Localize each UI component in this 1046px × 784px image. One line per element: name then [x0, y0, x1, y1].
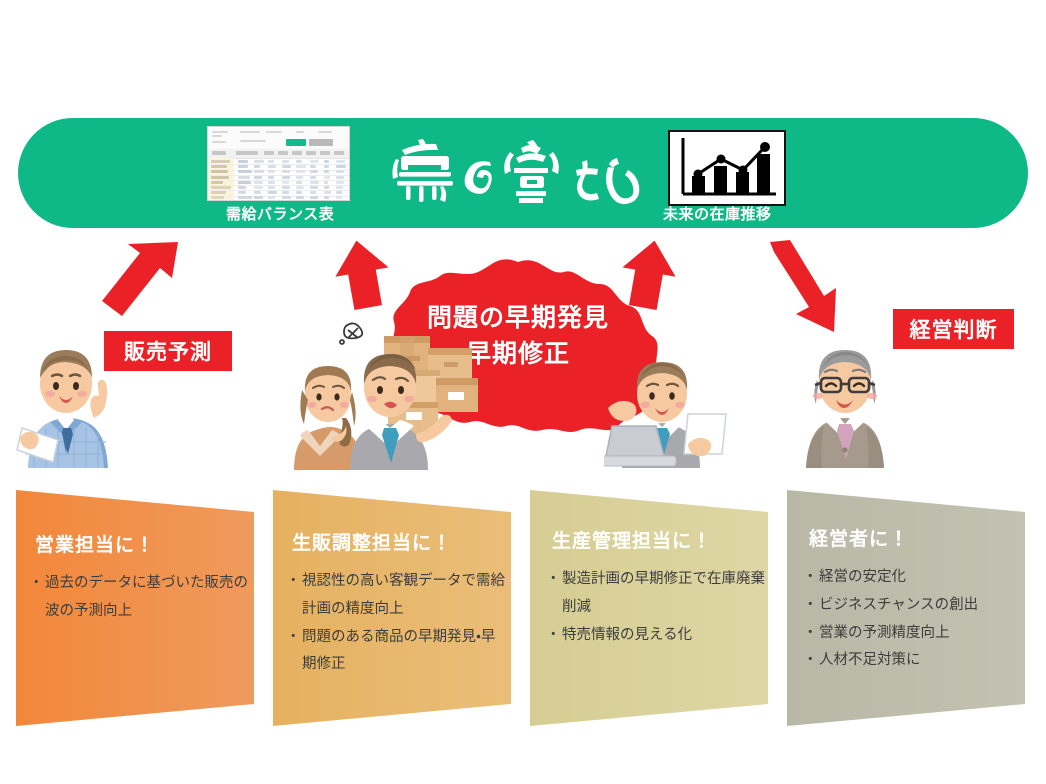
management-decision-tag[interactable]: 経営判断 [893, 309, 1014, 349]
laptop-person-illustration [604, 352, 734, 468]
sheet-primary-button [286, 139, 306, 146]
chart-caption: 未来の在庫推移 [663, 203, 772, 224]
benefit-card-list: 経営の安定化 ビジネスチャンスの創出 営業の予測精度向上 人材不足対策に [804, 564, 1022, 675]
arrow-down-right-exec [752, 240, 862, 340]
benefit-card-production[interactable]: 生産管理担当に！ 製造計画の早期修正で在庫廃棄削減 特売情報の見える化 [524, 486, 772, 731]
spreadsheet-thumbnail-icon [207, 126, 350, 201]
sheet-secondary-button [309, 139, 333, 146]
benefit-cards: 営業担当に！ 過去のデータに基づいた販売の波の予測向上 生販調整担当に！ 視認性… [0, 486, 1046, 746]
spreadsheet-toolbar [208, 127, 349, 150]
benefit-card-title: 生販調整担当に！ [292, 528, 452, 555]
benefit-card-list: 視認性の高い客観データで需給計画の精度向上 問題のある商品の早期発見・早期修正 [287, 568, 509, 679]
bar-line-chart-icon [668, 130, 786, 206]
slide-canvas: 需給バランス表 未来の在庫推移 問題の早期発見 早期修正 [0, 0, 1046, 784]
benefit-card-executive[interactable]: 経営者に！ 経営の安定化 ビジネスチャンスの創出 営業の予測精度向上 人材不足対… [781, 486, 1029, 731]
benefit-card-list: 製造計画の早期修正で在庫廃棄削減 特売情報の見える化 [547, 566, 765, 649]
benefit-card-list: 過去のデータに基づいた販売の波の予測向上 [30, 570, 250, 626]
list-item: 特売情報の見える化 [547, 622, 765, 650]
list-item: 人材不足対策に [804, 647, 1022, 675]
benefit-card-title: 営業担当に！ [35, 530, 155, 557]
list-item: 視認性の高い客観データで需給計画の精度向上 [287, 568, 509, 624]
list-item: 営業の予測精度向上 [804, 620, 1022, 648]
benefit-card-sales[interactable]: 営業担当に！ 過去のデータに基づいた販売の波の予測向上 [10, 486, 258, 731]
list-item: 経営の安定化 [804, 564, 1022, 592]
benefit-card-title: 経営者に！ [809, 524, 909, 551]
list-item: 製造計画の早期修正で在庫廃棄削減 [547, 566, 765, 622]
benefit-card-planning[interactable]: 生販調整担当に！ 視認性の高い客観データで需給計画の精度向上 問題のある商品の早… [267, 486, 515, 731]
benefit-card-title: 生産管理担当に！ [552, 526, 712, 553]
service-logo [390, 134, 650, 214]
worried-pair-illustration [288, 318, 478, 470]
list-item: ビジネスチャンスの創出 [804, 592, 1022, 620]
arrow-up-left-sales [100, 238, 210, 338]
sales-forecast-tag[interactable]: 販売予測 [104, 331, 232, 371]
list-item: 問題のある商品の早期発見・早期修正 [287, 624, 509, 680]
spreadsheet-caption: 需給バランス表 [226, 203, 334, 224]
list-item: 過去のデータに基づいた販売の波の予測向上 [30, 570, 250, 626]
executive-illustration [792, 332, 898, 468]
